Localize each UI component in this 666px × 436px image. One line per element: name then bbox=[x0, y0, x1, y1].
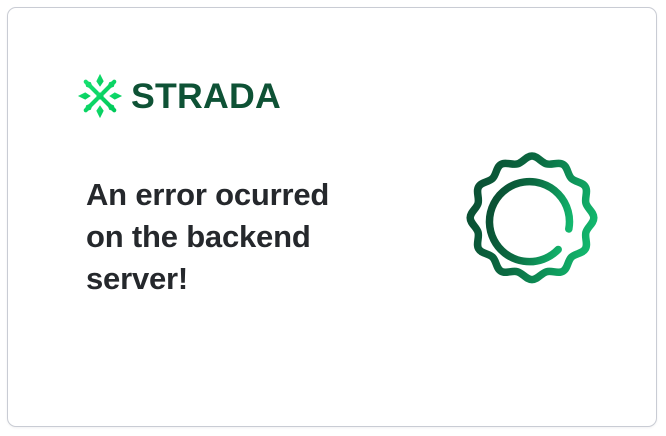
strada-asterisk-icon bbox=[77, 73, 123, 119]
gear-icon bbox=[448, 145, 616, 313]
error-message: An error ocurred on the backend server! bbox=[86, 174, 386, 300]
brand-wordmark: STRADA bbox=[131, 79, 281, 114]
brand-lockup: STRADA bbox=[77, 73, 278, 119]
gear-illustration bbox=[448, 145, 616, 313]
error-card: STRADA An error ocurred on the backend s… bbox=[7, 7, 657, 427]
